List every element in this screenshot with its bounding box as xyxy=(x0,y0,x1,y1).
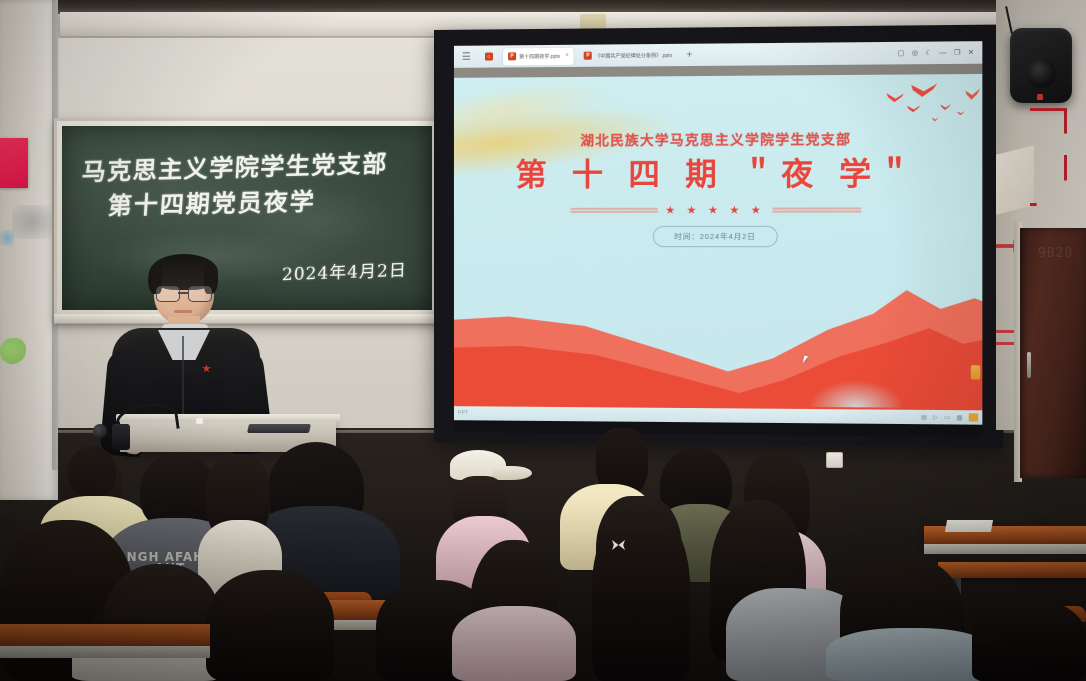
app-menu-icon[interactable]: ☰ xyxy=(458,51,475,62)
wall-scribble xyxy=(0,230,14,246)
restore-icon[interactable]: ❐ xyxy=(954,49,961,56)
chalk-piece xyxy=(196,418,203,424)
divider-line-right xyxy=(772,207,861,212)
desk-front-left-rail xyxy=(0,646,210,658)
glasses-bridge xyxy=(178,292,188,294)
left-wall xyxy=(0,0,58,500)
cap-brim xyxy=(492,466,532,480)
desk-front-left xyxy=(0,624,210,646)
dove-icon-6 xyxy=(932,117,938,121)
student-clothes xyxy=(826,628,994,681)
microphone-base xyxy=(112,424,130,450)
tab-0-label: 第十四期夜学.pptx xyxy=(519,52,560,59)
normal-view-icon[interactable]: ▤ xyxy=(921,413,927,420)
presenter-mouth xyxy=(174,310,192,313)
student-hair xyxy=(592,506,690,681)
student-hair xyxy=(972,600,1086,681)
presentation-slide[interactable]: 湖北民族大学马克思主义学院学生党支部 第 十 四 期 ＂夜 学＂ ★ ★ ★ ★… xyxy=(454,74,982,410)
save-icon[interactable]: ▢ xyxy=(898,49,905,56)
slide-subtitle: 湖北民族大学马克思主义学院学生党支部 xyxy=(454,127,982,150)
home-icon: ⌂ xyxy=(485,52,493,60)
microphone-head xyxy=(93,424,107,438)
sorter-view-icon[interactable]: ▦ xyxy=(957,414,963,421)
desk-right-2 xyxy=(938,562,1086,578)
divider-line-left xyxy=(571,208,658,213)
dove-icon-2 xyxy=(911,84,937,97)
night-mode-icon[interactable]: ☾ xyxy=(925,49,932,56)
projected-desktop: ☰ ⌂ P 第十四期夜学.pptx × P 《中国共产党纪律处分条例》.pptx… xyxy=(454,41,982,437)
powerpoint-icon-2: P xyxy=(584,52,592,60)
peeling-wallpaper xyxy=(996,145,1034,214)
cloud-icon[interactable]: ◎ xyxy=(912,49,918,56)
blackboard-date: 2024年4月2日 xyxy=(282,256,408,285)
projection-screen: ☰ ⌂ P 第十四期夜学.pptx × P 《中国共产党纪律处分条例》.pptx… xyxy=(434,25,1003,448)
stars-decoration: ★ ★ ★ ★ ★ xyxy=(665,204,765,217)
tab-0-close-icon[interactable]: × xyxy=(565,53,569,59)
dove-icon-5 xyxy=(957,111,964,115)
dove-icon-7 xyxy=(966,88,981,99)
glasses-lens-left xyxy=(156,286,180,302)
slide-divider: ★ ★ ★ ★ ★ xyxy=(454,203,982,217)
desk-paper xyxy=(945,520,993,532)
status-bar-view-controls: ▤ ▷ ▭ ▦ xyxy=(921,413,978,422)
desk-right-1-rail xyxy=(924,544,1086,554)
blackboard-line-1: 马克思主义学院学生党支部 xyxy=(81,144,389,188)
status-bar-label: PPT xyxy=(458,410,469,416)
dove-icon-3 xyxy=(907,105,921,112)
close-icon[interactable]: ✕ xyxy=(968,49,974,56)
reading-view-icon[interactable]: ▭ xyxy=(944,414,950,421)
wall-socket xyxy=(826,452,843,468)
slide-date-badge: 时间：2024年4月2日 xyxy=(653,226,778,247)
student-hair xyxy=(206,570,334,681)
tab-0[interactable]: P 第十四期夜学.pptx × xyxy=(503,47,574,65)
dove-icon-4 xyxy=(940,104,950,110)
tab-1[interactable]: P 《中国共产党纪律处分条例》.pptx xyxy=(579,46,677,64)
window-controls: ▢ ◎ ☾ — ❐ ✕ xyxy=(898,49,979,57)
slide-side-icon xyxy=(971,365,980,379)
red-poster xyxy=(0,138,28,188)
new-tab-button[interactable]: + xyxy=(682,49,696,60)
room-number: 9B20 xyxy=(1038,246,1073,261)
powerpoint-icon: P xyxy=(508,52,516,60)
door-handle[interactable] xyxy=(1027,352,1031,378)
wall-smudge xyxy=(12,205,52,239)
slide-title: 第 十 四 期 ＂夜 学＂ xyxy=(454,148,982,195)
student-clothes xyxy=(452,606,576,681)
glasses-lens-right xyxy=(188,286,212,302)
speaker-cone xyxy=(1026,58,1056,88)
tab-1-label: 《中国共产党纪律处分条例》.pptx xyxy=(595,51,672,59)
student-head xyxy=(68,446,116,498)
dove-icon-1 xyxy=(886,93,904,102)
zoom-control[interactable] xyxy=(969,413,978,421)
slideshow-icon[interactable]: ▷ xyxy=(933,414,938,421)
slide-wave-highlight xyxy=(810,380,903,407)
blackboard-line-2: 第十四期党员夜学 xyxy=(107,182,317,221)
speaker-led xyxy=(1037,94,1043,100)
tab-home[interactable]: ⌂ xyxy=(480,48,498,65)
laptop xyxy=(247,424,311,433)
minimize-icon[interactable]: — xyxy=(939,49,946,56)
classroom-photo: 马克思主义学院学生党支部 第十四期党员夜学 2024年4月2日 ☰ ⌂ P 第十… xyxy=(0,0,1086,681)
